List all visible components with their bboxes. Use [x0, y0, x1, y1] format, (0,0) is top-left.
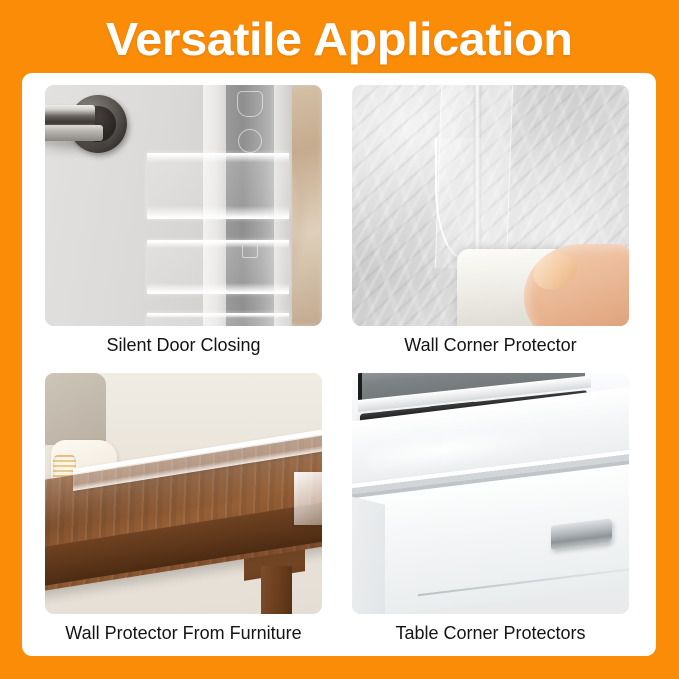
- panels-grid: Silent Door Closing Wall: [45, 85, 629, 645]
- panel-caption: Wall Protector From Furniture: [65, 621, 301, 645]
- photo-table-corner-protectors[interactable]: [352, 373, 629, 614]
- panel-wall-protector-from-furniture[interactable]: Wall Protector From Furniture: [45, 373, 322, 645]
- corner-protector-strip: [147, 240, 288, 294]
- photo-silent-door-closing[interactable]: [45, 85, 322, 326]
- product-infographic: Versatile Application: [0, 0, 679, 679]
- panel-caption: Silent Door Closing: [106, 333, 260, 357]
- photo-wall-protector-from-furniture[interactable]: [45, 373, 322, 614]
- panel-caption: Wall Corner Protector: [404, 333, 576, 357]
- clear-corner-protector: [294, 472, 322, 525]
- panel-wall-corner-protector[interactable]: Wall Corner Protector: [352, 85, 629, 357]
- keypad-button-icon: [237, 91, 263, 117]
- wall-panel: [45, 373, 106, 445]
- door-handle-lever-icon: [45, 105, 95, 127]
- panels-card: Silent Door Closing Wall: [22, 73, 656, 656]
- corner-protector-strip: [147, 313, 288, 326]
- panel-silent-door-closing[interactable]: Silent Door Closing: [45, 85, 322, 357]
- table-leg: [261, 566, 291, 614]
- panel-table-corner-protectors[interactable]: Table Corner Protectors: [352, 373, 629, 645]
- keypad-circle-icon: [238, 129, 262, 153]
- page-title: Versatile Application: [106, 16, 573, 62]
- cabinet-side: [352, 491, 385, 614]
- door-handle-lever-lower-icon: [45, 125, 103, 141]
- panel-caption: Table Corner Protectors: [395, 621, 585, 645]
- photo-wall-corner-protector[interactable]: [352, 85, 629, 326]
- banner-header: Versatile Application: [0, 10, 679, 68]
- corner-protector-strip: [147, 153, 288, 219]
